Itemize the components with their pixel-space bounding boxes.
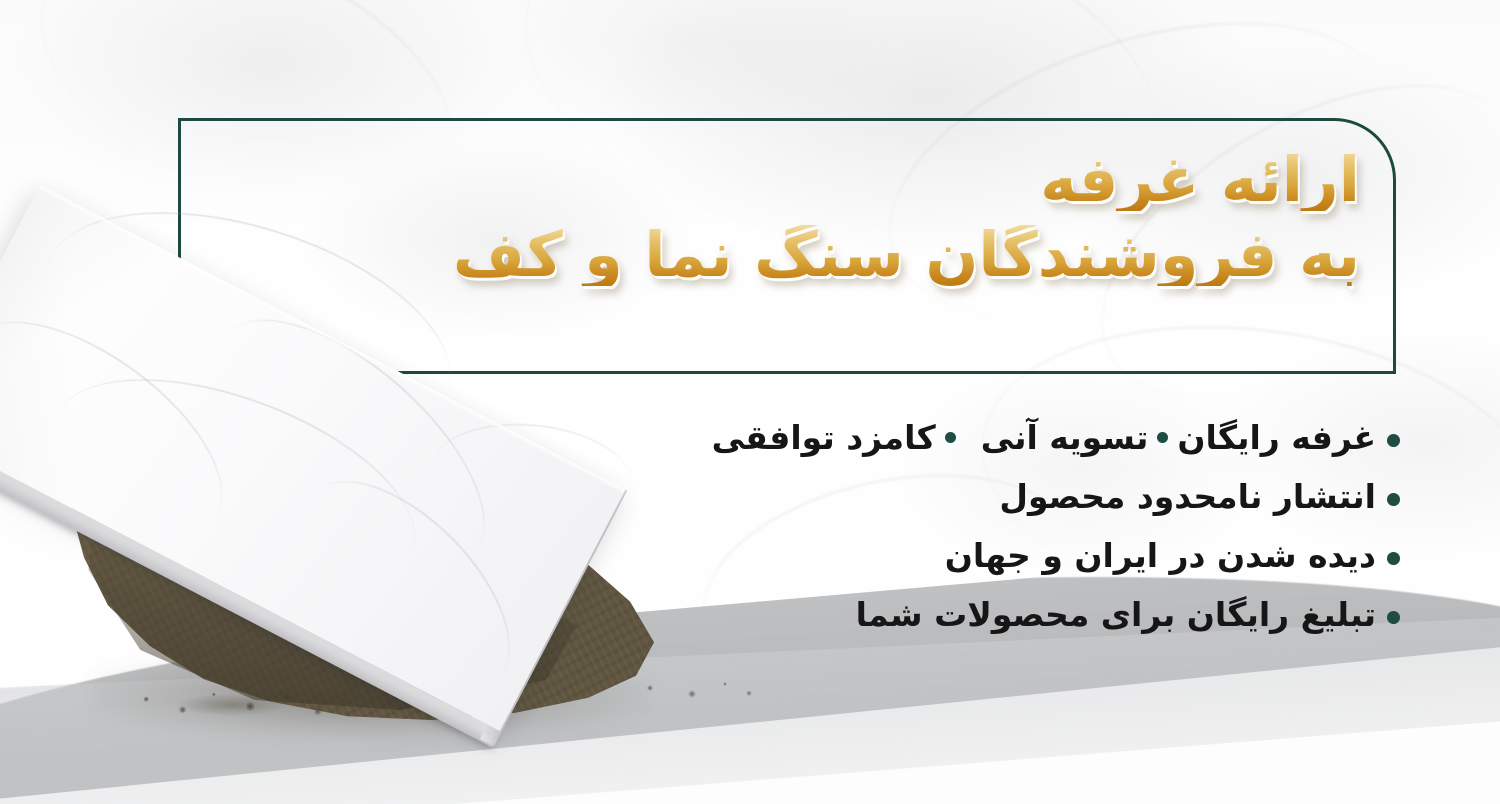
banner-root: ارائه غرفه به فروشندگان سنگ نما و کف غرف… xyxy=(0,0,1500,804)
feature-inline-group: غرفه رایگانتسویه آنیکامزد توافقی xyxy=(712,418,1376,457)
feature-list: غرفه رایگانتسویه آنیکامزد توافقی انتشار … xyxy=(712,418,1400,654)
list-item-label: تبلیغ رایگان برای محصولات شما xyxy=(856,595,1376,634)
bullet-dot-icon xyxy=(1387,493,1400,506)
headline-line-1: ارائه غرفه xyxy=(453,150,1360,211)
bullet-dot-icon xyxy=(1387,434,1400,447)
feature-item-2: تسویه آنی xyxy=(981,418,1149,457)
bullet-dot-icon xyxy=(1157,432,1168,443)
stone-debris xyxy=(115,680,375,728)
bullet-dot-icon xyxy=(1387,611,1400,624)
bullet-dot-icon xyxy=(945,432,956,443)
feature-item-3: کامزد توافقی xyxy=(712,418,936,457)
feature-row-inline: غرفه رایگانتسویه آنیکامزد توافقی xyxy=(712,418,1400,457)
list-item: انتشار نامحدود محصول xyxy=(712,477,1400,516)
headline: ارائه غرفه به فروشندگان سنگ نما و کف xyxy=(453,150,1360,286)
list-item-label: انتشار نامحدود محصول xyxy=(999,477,1376,516)
list-item-label: دیده شدن در ایران و جهان xyxy=(945,536,1376,575)
feature-item-1: غرفه رایگان xyxy=(1177,418,1376,457)
list-item: تبلیغ رایگان برای محصولات شما xyxy=(712,595,1400,634)
list-item: دیده شدن در ایران و جهان xyxy=(712,536,1400,575)
headline-line-2: به فروشندگان سنگ نما و کف xyxy=(453,225,1360,286)
bullet-dot-icon xyxy=(1387,552,1400,565)
